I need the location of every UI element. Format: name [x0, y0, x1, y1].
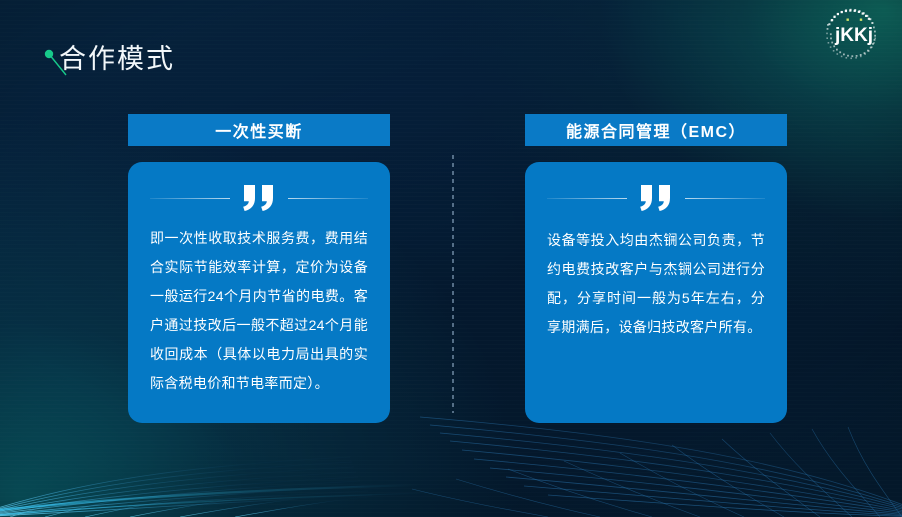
quote-rule-left — [150, 198, 230, 199]
quote-rule-right — [685, 198, 765, 199]
slide-canvas: jKKj 合作模式 一次性买断 — [0, 0, 902, 517]
quote-mark-icon — [242, 185, 276, 211]
card-title-emc: 能源合同管理（EMC） — [525, 114, 787, 146]
card-body-buyout: 即一次性收取技术服务费，费用结合实际节能效率计算，定价为设备一般运行24个月内节… — [128, 162, 390, 423]
title-bullet-dot — [45, 50, 53, 58]
quote-decoration-row — [547, 178, 765, 218]
page-title: 合作模式 — [40, 42, 370, 88]
card-text-emc: 设备等投入均由杰锎公司负责，节约电费技改客户与杰锎公司进行分配，分享时间一般为5… — [547, 224, 765, 342]
quote-rule-right — [288, 198, 368, 199]
card-body-emc: 设备等投入均由杰锎公司负责，节约电费技改客户与杰锎公司进行分配，分享时间一般为5… — [525, 162, 787, 423]
card-title-buyout: 一次性买断 — [128, 114, 390, 146]
quote-rule-left — [547, 198, 627, 199]
jkkj-logo: jKKj — [818, 4, 890, 64]
column-buyout: 一次性买断 即一次性收取技术服务费，费用结合实际节能效率计算，定价为设备一般运行… — [128, 114, 390, 423]
logo-wordmark: jKKj — [834, 25, 873, 46]
column-emc: 能源合同管理（EMC） 设备等投入均由杰锎公司负责，节约电费技改客户与杰锎公司进… — [525, 114, 787, 423]
column-divider — [452, 155, 454, 413]
page-title-text: 合作模式 — [59, 42, 175, 76]
quote-decoration-row — [150, 178, 368, 218]
quote-mark-icon — [639, 185, 673, 211]
card-text-buyout: 即一次性收取技术服务费，费用结合实际节能效率计算，定价为设备一般运行24个月内节… — [150, 224, 368, 398]
